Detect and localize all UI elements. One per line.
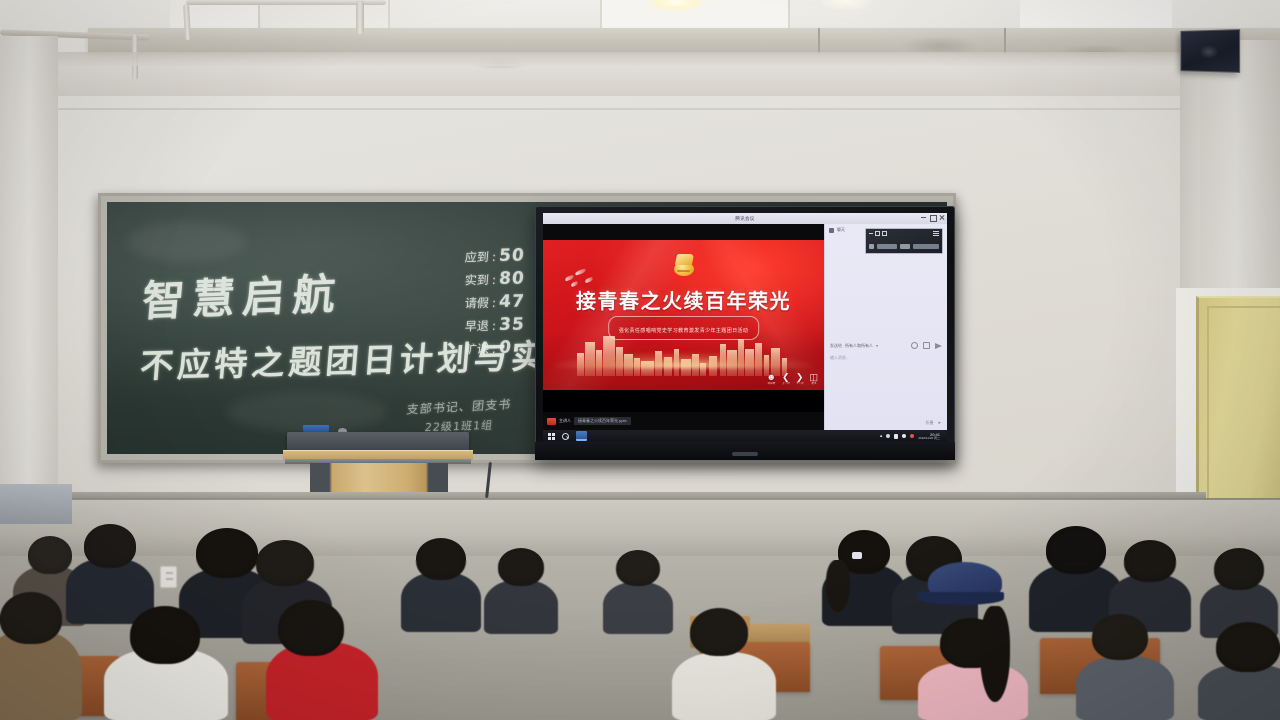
lectern-top xyxy=(287,432,469,451)
window-titlebar[interactable]: 腾讯会议 xyxy=(543,213,947,224)
chat-icon xyxy=(829,228,834,233)
audience xyxy=(0,496,1280,720)
show-hidden-icons-chevron[interactable]: ▴ xyxy=(880,433,883,439)
windows-taskbar[interactable]: ▴ 20:41 2022/11/22 周二 xyxy=(543,430,947,442)
powerpoint-icon xyxy=(547,418,556,425)
meeting-app-body: 接青春之火续百年荣光 强化责任感唱响党史学习教育激发青少年主题团日活动 xyxy=(543,224,947,430)
cap-brim xyxy=(918,592,1004,605)
stat-colon: : xyxy=(491,342,496,356)
display-brand-logo xyxy=(732,452,758,456)
stat-colon: : xyxy=(491,296,496,310)
ceiling-light xyxy=(646,0,706,12)
student-torso xyxy=(1076,656,1174,720)
speaker-glint xyxy=(1200,45,1219,59)
clock-date: 2022/11/22 周二 xyxy=(918,437,940,440)
stat-colon: : xyxy=(491,319,496,333)
student-head xyxy=(196,528,258,578)
shared-filename: 接青春之火续百年荣光.pptx xyxy=(574,417,631,425)
wall-speaker xyxy=(1180,29,1240,73)
student-head xyxy=(616,550,660,586)
student-head xyxy=(1216,622,1280,672)
collapse-label[interactable]: 折叠 xyxy=(925,420,933,426)
taskbar-clock[interactable]: 20:41 2022/11/22 周二 xyxy=(918,433,943,440)
windows-desktop: 腾讯会议 xyxy=(543,213,947,442)
wall-seam xyxy=(56,108,1206,110)
prev-icon[interactable]: ❮ 上一页 xyxy=(782,373,790,386)
student-head xyxy=(1092,614,1148,660)
participant-meta-placeholder xyxy=(913,244,939,249)
ponytail xyxy=(980,606,1010,702)
chat-recipient-row[interactable]: 发送给 所有人和所有人 ▾ xyxy=(830,342,942,349)
stage-footer: 主讲人 接青春之火续百年荣光.pptx xyxy=(543,412,824,430)
student-head xyxy=(28,536,72,574)
network-icon[interactable] xyxy=(886,434,890,438)
student-head xyxy=(690,608,748,656)
tile-menu-icon[interactable] xyxy=(933,231,939,236)
blackboard-headline: 智慧启航 xyxy=(140,260,346,329)
wall-band xyxy=(56,52,1206,66)
blackboard-signature-1: 支部书记、团支书 xyxy=(406,395,513,417)
student-head xyxy=(278,600,344,656)
student-head xyxy=(416,538,466,580)
panel-header-label: 聊天 xyxy=(837,227,845,233)
file-icon[interactable] xyxy=(923,342,930,349)
window-controls xyxy=(921,215,944,220)
wall-display: 腾讯会议 xyxy=(535,206,955,460)
student-torso xyxy=(484,580,558,634)
search-icon[interactable] xyxy=(562,433,569,440)
stat-value: 47 xyxy=(498,291,525,311)
student-head xyxy=(498,548,544,586)
participant-status-placeholder xyxy=(900,244,910,249)
student-head xyxy=(130,606,200,664)
student-torso xyxy=(401,572,481,632)
display-bezel-bottom xyxy=(535,442,955,460)
student-head xyxy=(1214,548,1264,590)
chat-side-panel[interactable]: 聊天 xyxy=(824,224,947,430)
chat-footer[interactable]: 折叠 ▸ xyxy=(925,420,941,426)
send-to-label: 发送给 xyxy=(830,343,842,349)
table-row: 早退 : 35 xyxy=(464,314,526,335)
emoji-icon[interactable] xyxy=(911,342,918,349)
chat-input[interactable]: 输入消息... xyxy=(830,355,849,361)
wall-pillar-left xyxy=(0,36,58,516)
communist-youth-league-emblem xyxy=(673,254,695,276)
system-tray[interactable]: ▴ 20:41 2022/11/22 周二 xyxy=(880,433,947,440)
meeting-app-icon[interactable] xyxy=(576,431,587,441)
student-head xyxy=(1046,526,1106,574)
send-icon[interactable] xyxy=(935,342,942,349)
student-torso xyxy=(603,582,673,634)
student-torso xyxy=(918,662,1028,720)
tile-window-controls[interactable] xyxy=(869,231,887,236)
window-title: 腾讯会议 xyxy=(735,216,754,222)
stat-value: 0 xyxy=(498,338,513,358)
stat-colon: : xyxy=(491,273,496,287)
maximize-icon[interactable] xyxy=(882,231,887,236)
hair-clip xyxy=(852,552,862,559)
presenter-label: 主讲人 xyxy=(559,418,571,424)
chevron-down-icon[interactable]: ▾ xyxy=(876,343,878,348)
table-row: 旷课 : 0 xyxy=(464,337,526,358)
student-head xyxy=(84,524,136,568)
notification-icon[interactable] xyxy=(910,434,914,438)
student-head xyxy=(0,592,62,644)
screenshot-root: 智慧启航 不应特之题团日计划与实施 应到 : 50 实到 : 80 请假 : 4… xyxy=(0,0,1280,720)
door-panel xyxy=(1207,306,1280,512)
stat-label: 旷课 xyxy=(464,340,490,357)
chat-action-icons[interactable] xyxy=(911,342,942,349)
slide-title: 接青春之火续百年荣光 xyxy=(543,285,824,314)
battery-icon[interactable] xyxy=(902,434,906,438)
student-head xyxy=(256,540,314,586)
expand-icon[interactable]: ▸ xyxy=(938,420,941,426)
attendance-stats: 应到 : 50 实到 : 80 请假 : 47 早退 : 35 xyxy=(465,246,525,358)
student-torso xyxy=(0,630,82,720)
stat-value: 50 xyxy=(498,245,525,265)
minimize-icon[interactable] xyxy=(869,233,873,234)
minimize-icon[interactable] xyxy=(921,215,926,220)
next-icon[interactable]: ❯ 下一页 xyxy=(796,373,804,386)
ceiling-light xyxy=(820,0,872,10)
participant-avatar xyxy=(869,244,874,249)
table-row: 应到 : 50 xyxy=(464,245,526,266)
restore-icon[interactable] xyxy=(875,231,880,236)
classroom-door[interactable] xyxy=(1196,296,1280,518)
participant-video-tile[interactable] xyxy=(865,228,943,254)
table-row: 请假 : 47 xyxy=(464,291,526,312)
panel-header: 聊天 xyxy=(829,227,845,233)
stat-label: 请假 xyxy=(464,294,490,311)
student-head xyxy=(1124,540,1176,582)
stat-label: 实到 xyxy=(464,271,490,288)
student-torso xyxy=(1198,664,1280,720)
person-icon[interactable]: ☻ 演讲者 xyxy=(766,373,775,386)
keyboard[interactable] xyxy=(303,425,329,432)
windows-start-icon[interactable] xyxy=(548,433,555,440)
city-skyline-graphic xyxy=(543,332,824,376)
more-icon[interactable]: ◫ 更多 xyxy=(809,373,818,386)
table-row: 实到 : 80 xyxy=(464,268,526,289)
maximize-icon[interactable] xyxy=(930,215,935,220)
recipient-value[interactable]: 所有人和所有人 xyxy=(845,343,873,349)
volume-icon[interactable] xyxy=(894,434,898,439)
doves-decoration xyxy=(565,266,599,286)
close-icon[interactable] xyxy=(939,215,944,220)
stat-value: 80 xyxy=(498,268,525,288)
ceiling-pipe xyxy=(356,0,364,34)
shared-screen-stage[interactable]: 接青春之火续百年荣光 强化责任感唱响党史学习教育激发青少年主题团日活动 xyxy=(543,224,824,430)
stat-value: 35 xyxy=(498,314,525,334)
tile-info-row xyxy=(869,243,939,250)
stat-label: 应到 xyxy=(464,248,490,265)
presentation-slide[interactable]: 接青春之火续百年荣光 强化责任感唱响党史学习教育激发青少年主题团日活动 xyxy=(543,240,824,390)
display-screen[interactable]: 腾讯会议 xyxy=(543,213,947,442)
stat-label: 早退 xyxy=(464,317,490,334)
participant-name-placeholder xyxy=(877,244,897,249)
stage-topbar xyxy=(543,224,824,240)
stat-colon: : xyxy=(491,250,496,264)
ponytail xyxy=(826,560,850,612)
slide-navigation[interactable]: ☻ 演讲者 ❮ 上一页 ❯ 下一页 ◫ 更多 xyxy=(766,373,818,386)
student-torso xyxy=(672,652,776,720)
